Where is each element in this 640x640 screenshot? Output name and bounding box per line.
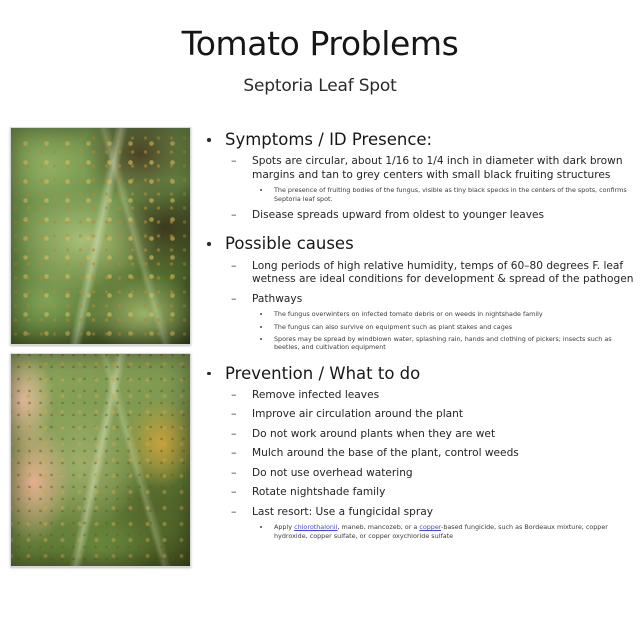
hand-holding-infected-leaf-image	[10, 353, 191, 567]
photo-vignette	[11, 128, 190, 344]
prevention-step: Remove infected leaves	[198, 389, 634, 403]
pathway-item: The fungus overwinters on infected tomat…	[198, 310, 634, 318]
pathway-item: Spores may be spread by windblown water,…	[198, 335, 634, 352]
prevention-step: Last resort: Use a fungicidal spray	[198, 506, 634, 520]
pathways-heading: Pathways	[198, 293, 634, 307]
slide: Tomato Problems Septoria Leaf Spot Sympt…	[0, 0, 640, 640]
fungicide-note: Apply chlorothalonil, maneb, mancozeb, o…	[198, 523, 634, 540]
symptom-point: Disease spreads upward from oldest to yo…	[198, 209, 634, 223]
page-title: Tomato Problems	[0, 24, 640, 63]
prevention-step: Improve air circulation around the plant	[198, 408, 634, 422]
symptom-point: Spots are circular, about 1/16 to 1/4 in…	[198, 155, 634, 182]
fungicide-note-middle: , maneb, mancozeb, or a	[337, 523, 419, 531]
page-subtitle: Septoria Leaf Spot	[0, 76, 640, 96]
section-heading-prevention: Prevention / What to do	[198, 364, 634, 383]
prevention-step: Do not use overhead watering	[198, 467, 634, 481]
section-heading-symptoms: Symptoms / ID Presence:	[198, 130, 634, 149]
section-heading-causes: Possible causes	[198, 234, 634, 253]
chlorothalonil-link[interactable]: chlorothalonil	[294, 523, 337, 531]
cause-conditions: Long periods of high relative humidity, …	[198, 260, 634, 287]
prevention-step: Mulch around the base of the plant, cont…	[198, 447, 634, 461]
slide-body: Symptoms / ID Presence: Spots are circul…	[198, 130, 634, 540]
tomato-foliage-septoria-lesions-image	[10, 127, 191, 345]
symptom-detail-note: The presence of fruiting bodies of the f…	[198, 186, 634, 203]
prevention-step: Rotate nightshade family	[198, 486, 634, 500]
photo-vignette	[11, 354, 190, 566]
pathway-item: The fungus can also survive on equipment…	[198, 323, 634, 331]
prevention-step: Do not work around plants when they are …	[198, 428, 634, 442]
fungicide-note-prefix: Apply	[274, 523, 294, 531]
copper-link[interactable]: copper	[419, 523, 441, 531]
